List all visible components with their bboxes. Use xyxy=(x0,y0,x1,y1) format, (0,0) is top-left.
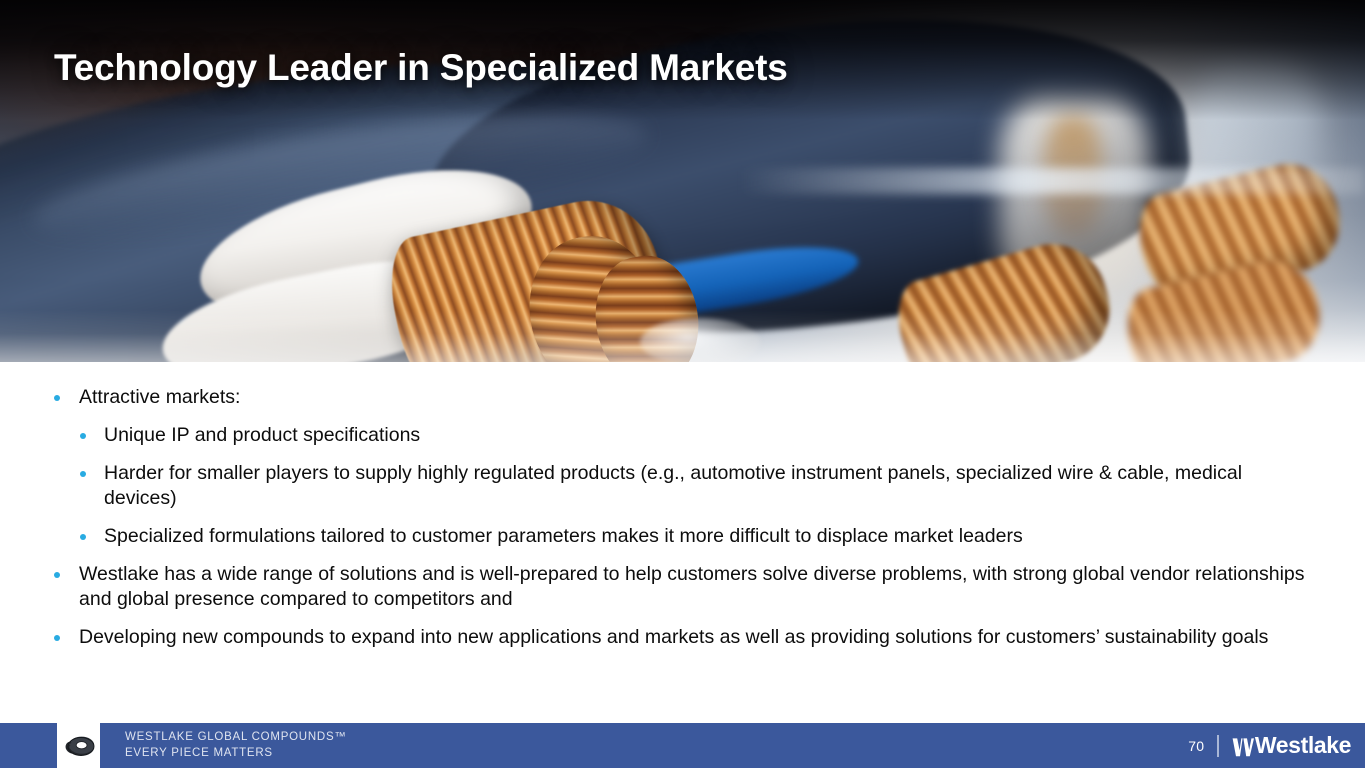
bullet-item: Specialized formulations tailored to cus… xyxy=(80,511,1311,549)
bullet-item: Attractive markets: xyxy=(54,372,1311,410)
bullet-dot-icon xyxy=(54,635,60,641)
page-number: 70 xyxy=(1188,738,1204,754)
bullet-list: Attractive markets: Unique IP and produc… xyxy=(0,372,1365,650)
bullet-text: Unique IP and product specifications xyxy=(104,423,420,448)
bullet-item: Unique IP and product specifications xyxy=(80,410,1311,448)
bullet-text: Attractive markets: xyxy=(79,385,240,410)
bullet-text: Harder for smaller players to supply hig… xyxy=(104,461,1311,511)
bullet-text: Specialized formulations tailored to cus… xyxy=(104,524,1023,549)
westlake-w-icon xyxy=(1232,734,1254,757)
hero-bottom-fade xyxy=(0,310,1365,362)
bullet-dot-icon xyxy=(54,572,60,578)
westlake-wordmark-text: Westlake xyxy=(1255,732,1351,759)
footer-divider xyxy=(1217,735,1219,757)
coiled-cable-icon xyxy=(62,733,96,759)
footer-bar: WESTLAKE GLOBAL COMPOUNDS™ EVERY PIECE M… xyxy=(0,723,1365,768)
bullet-dot-icon xyxy=(80,433,86,439)
westlake-logo: Westlake xyxy=(1232,732,1351,759)
bullet-item: Harder for smaller players to supply hig… xyxy=(80,448,1311,511)
page-title: Technology Leader in Specialized Markets xyxy=(54,47,788,89)
light-haze-band xyxy=(740,168,1365,194)
bullet-item: Developing new compounds to expand into … xyxy=(54,612,1311,650)
bullet-dot-icon xyxy=(80,534,86,540)
bullet-item: Westlake has a wide range of solutions a… xyxy=(54,549,1311,612)
slide: Technology Leader in Specialized Markets… xyxy=(0,0,1365,768)
footer-line-2: EVERY PIECE MATTERS xyxy=(125,746,347,762)
bullet-text: Developing new compounds to expand into … xyxy=(79,625,1268,650)
bullet-dot-icon xyxy=(80,471,86,477)
bullet-dot-icon xyxy=(54,395,60,401)
footer-tagline: WESTLAKE GLOBAL COMPOUNDS™ EVERY PIECE M… xyxy=(125,730,347,761)
footer-logo-tile xyxy=(57,723,100,768)
bullet-text: Westlake has a wide range of solutions a… xyxy=(79,562,1311,612)
footer-line-1: WESTLAKE GLOBAL COMPOUNDS™ xyxy=(125,730,347,746)
footer-right-group: 70 Westlake xyxy=(1188,723,1351,768)
